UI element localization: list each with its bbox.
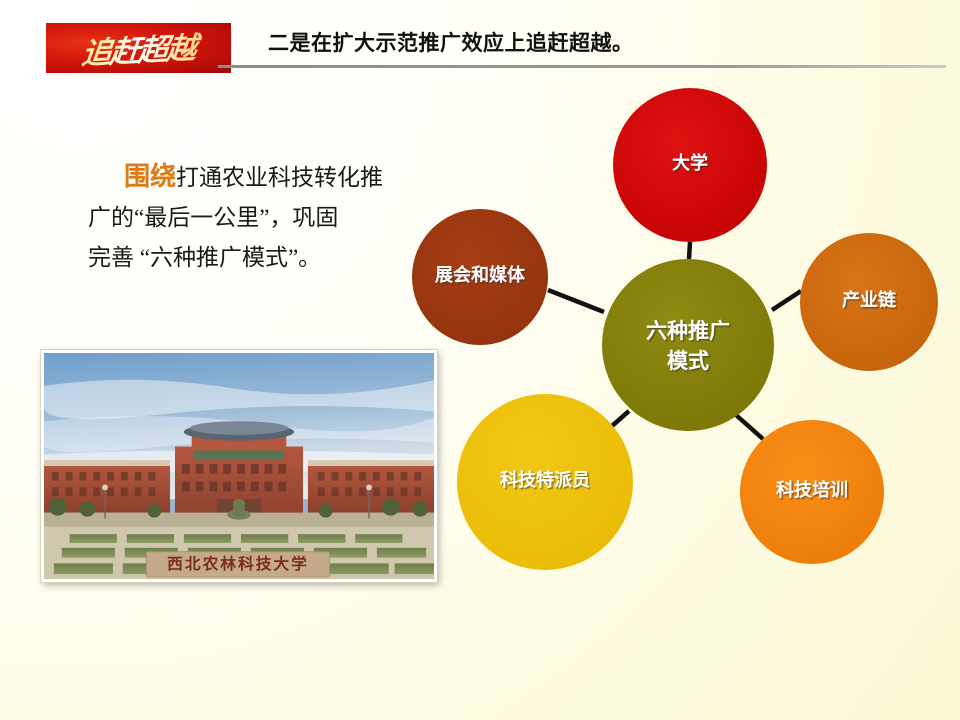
connector-to-peixun — [736, 415, 763, 439]
slide-canvas: 追赶超越 二是在扩大示范推广效应上追赶超越。 围绕打通农业科技转化推 广的“最后… — [0, 0, 960, 720]
paragraph-line-1-rest: 打通农业科技转化推 — [176, 165, 383, 190]
node-daxue-label: 大学 — [672, 152, 708, 173]
node-kejipeixun-label: 科技培训 — [776, 479, 848, 500]
node-center-label-line1: 六种推广 — [646, 319, 730, 343]
node-chanyelian-label: 产业链 — [842, 289, 897, 310]
node-kejitepaiyuan-label: 科技特派员 — [500, 469, 590, 490]
title-divider — [218, 65, 946, 68]
logo-banner: 追赶超越 — [46, 23, 231, 73]
node-chanyelian[interactable]: 产业链 — [800, 233, 938, 371]
node-kejipeixun[interactable]: 科技培训 — [740, 420, 884, 564]
node-zhanhuihemeiti-label: 展会和媒体 — [435, 264, 526, 285]
photo-stone-inscription: 西北农林科技大学 — [167, 554, 309, 573]
paragraph-lead-word: 围绕 — [124, 162, 176, 191]
node-center-hub[interactable]: 六种推广 模式 — [602, 259, 774, 431]
campus-photo: 西北农林科技大学 — [41, 350, 437, 582]
diagram-svg: 大学 产业链 科技培训 科技特派员 展会和媒体 六种推广 — [380, 75, 960, 595]
node-daxue[interactable]: 大学 — [613, 88, 767, 242]
connector-to-chanyelian — [772, 291, 801, 310]
logo-text: 追赶超越 — [80, 23, 197, 73]
six-modes-diagram: 大学 产业链 科技培训 科技特派员 展会和媒体 六种推广 — [380, 75, 960, 595]
connector-to-daxue — [689, 242, 690, 259]
logo-calligraphy-text: 追赶超越 — [46, 23, 231, 73]
node-kejitepaiyuan[interactable]: 科技特派员 — [457, 394, 633, 570]
node-zhanhuihemeiti[interactable]: 展会和媒体 — [412, 209, 548, 345]
node-center-label-line2: 模式 — [667, 349, 709, 373]
page-title: 二是在扩大示范推广效应上追赶超越。 — [268, 27, 634, 57]
campus-photo-illustration: 西北农林科技大学 — [44, 353, 434, 579]
connector-to-zhanhui — [548, 290, 604, 312]
